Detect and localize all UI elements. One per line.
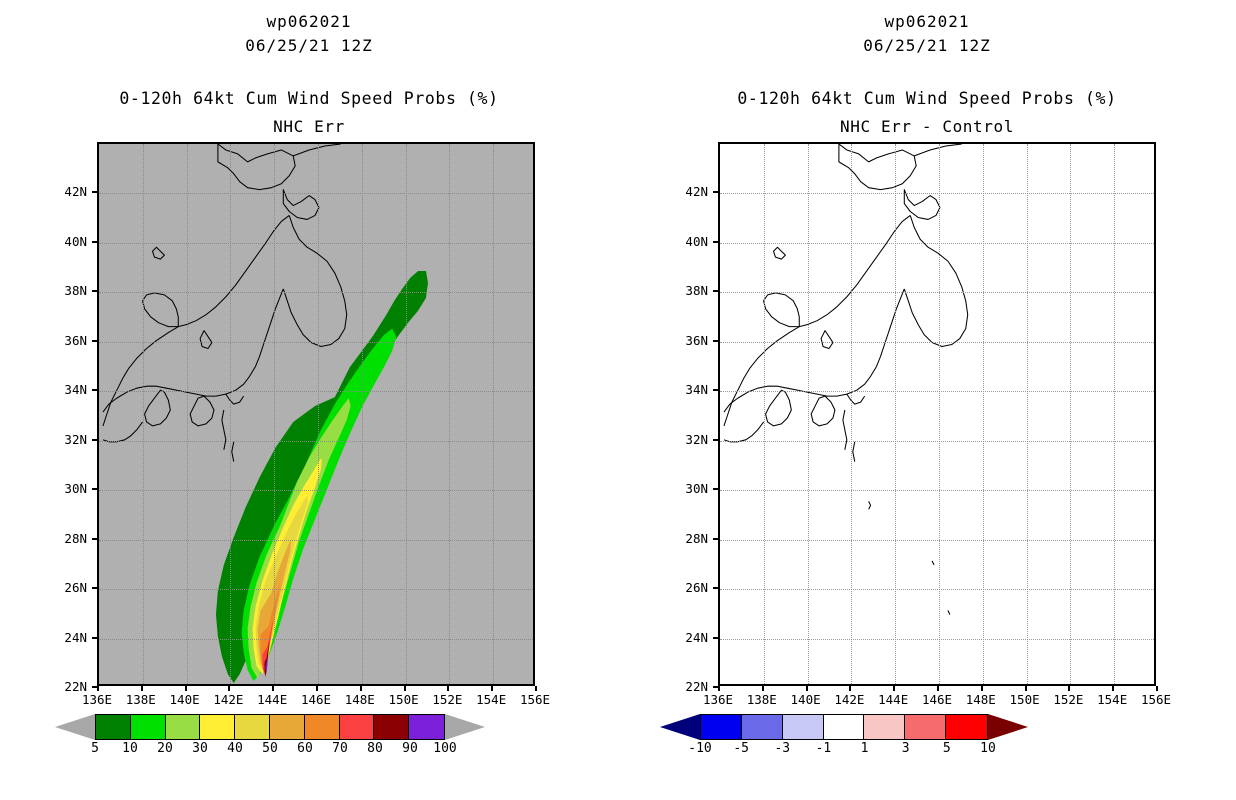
y-axis-label: 36N: [668, 333, 708, 348]
x-axis-tick: [1025, 686, 1027, 691]
gridline-vertical: [274, 144, 275, 684]
x-axis-tick: [404, 686, 406, 691]
x-axis-tick: [141, 686, 143, 691]
x-axis-label: 152E: [1046, 692, 1090, 707]
colorbar-swatch: [96, 715, 131, 739]
y-axis-label: 40N: [668, 234, 708, 249]
gridline-vertical: [143, 144, 144, 684]
y-axis-tick: [713, 439, 718, 441]
gridline-horizontal: [720, 193, 1154, 194]
colorbar-tick-label: -10: [680, 741, 720, 756]
chart-subtitle-left: NHC Err: [0, 117, 618, 136]
colorbar-swatch: [783, 715, 824, 739]
colorbar-tick-label: 80: [355, 741, 395, 756]
colorbar-swatch: [305, 715, 340, 739]
y-axis-tick: [92, 389, 97, 391]
colorbar-tick-label: 70: [320, 741, 360, 756]
chart-title-left: 0-120h 64kt Cum Wind Speed Probs (%): [0, 89, 618, 108]
y-axis-label: 34N: [668, 382, 708, 397]
colorbar-tick-label: 20: [145, 741, 185, 756]
x-axis-label: 138E: [119, 692, 163, 707]
y-axis-label: 30N: [668, 481, 708, 496]
gridline-horizontal: [720, 342, 1154, 343]
y-axis-label: 28N: [668, 531, 708, 546]
colorbar-swatch: [270, 715, 305, 739]
gridline-vertical: [764, 144, 765, 684]
colorbar-tick-label: 90: [390, 741, 430, 756]
colorbar-swatch: [701, 715, 742, 739]
y-axis-label: 28N: [47, 531, 87, 546]
colorbar-ticklabels-difference: -10-5-3-113510: [700, 741, 988, 759]
storm-id-left: wp062021: [0, 12, 618, 31]
gridline-vertical: [318, 144, 319, 684]
x-axis-label: 144E: [871, 692, 915, 707]
x-axis-tick: [1068, 686, 1070, 691]
y-axis-tick: [713, 290, 718, 292]
y-axis-label: 32N: [668, 432, 708, 447]
colorbar-tick-label: -3: [762, 741, 802, 756]
coastline-difference-panel: [720, 144, 1154, 684]
y-axis-tick: [713, 488, 718, 490]
probability-plume: [216, 271, 428, 683]
colorbar-tick-label: -1: [803, 741, 843, 756]
datetime-left: 06/25/21 12Z: [0, 36, 618, 55]
datetime-right: 06/25/21 12Z: [618, 36, 1236, 55]
y-axis-tick: [713, 389, 718, 391]
gridline-vertical: [808, 144, 809, 684]
x-axis-tick: [981, 686, 983, 691]
x-axis-tick: [447, 686, 449, 691]
gridline-horizontal: [720, 639, 1154, 640]
x-axis-tick: [718, 686, 720, 691]
gridline-vertical: [1070, 144, 1071, 684]
gridline-horizontal: [99, 639, 533, 640]
colorbar-swatch: [824, 715, 865, 739]
x-axis-tick: [491, 686, 493, 691]
y-axis-tick: [92, 686, 97, 688]
colorbar-tick-label: -5: [721, 741, 761, 756]
x-axis-tick: [762, 686, 764, 691]
colorbar-tick-label: 10: [968, 741, 1008, 756]
gridline-vertical: [1114, 144, 1115, 684]
y-axis-label: 38N: [668, 283, 708, 298]
colorbar-swatch: [235, 715, 270, 739]
gridline-horizontal: [720, 589, 1154, 590]
y-axis-tick: [713, 587, 718, 589]
x-axis-label: 146E: [294, 692, 338, 707]
colorbar-swatch: [409, 715, 444, 739]
colorbar-swatch: [166, 715, 201, 739]
colorbar-tick-label: 50: [250, 741, 290, 756]
gridline-horizontal: [720, 391, 1154, 392]
y-axis-tick: [92, 290, 97, 292]
colorbar-difference[interactable]: -10-5-3-113510: [700, 714, 988, 740]
x-axis-label: 144E: [250, 692, 294, 707]
y-axis-tick: [92, 587, 97, 589]
y-axis-label: 34N: [47, 382, 87, 397]
gridline-horizontal: [99, 243, 533, 244]
gridline-horizontal: [720, 540, 1154, 541]
x-axis-tick: [937, 686, 939, 691]
y-axis-tick: [92, 538, 97, 540]
x-axis-label: 136E: [696, 692, 740, 707]
x-axis-label: 142E: [827, 692, 871, 707]
gridline-vertical: [406, 144, 407, 684]
storm-id-right: wp062021: [618, 12, 1236, 31]
gridline-vertical: [1027, 144, 1028, 684]
colorbar-right-arrow-difference: [988, 714, 1028, 740]
x-axis-label: 154E: [1090, 692, 1134, 707]
x-axis-label: 140E: [163, 692, 207, 707]
y-axis-label: 22N: [47, 679, 87, 694]
x-axis-label: 150E: [1003, 692, 1047, 707]
colorbar-swatch: [864, 715, 905, 739]
coastline: [724, 144, 968, 615]
colorbar-tick-label: 5: [75, 741, 115, 756]
x-axis-label: 142E: [206, 692, 250, 707]
probability-contours-and-coastline: [99, 144, 533, 684]
x-axis-label: 156E: [1134, 692, 1178, 707]
gridline-horizontal: [99, 391, 533, 392]
y-axis-label: 22N: [668, 679, 708, 694]
colorbar-tick-label: 60: [285, 741, 325, 756]
y-axis-tick: [92, 637, 97, 639]
panel-nhc-err: wp062021 06/25/21 12Z 0-120h 64kt Cum Wi…: [0, 0, 618, 800]
gridline-vertical: [362, 144, 363, 684]
x-axis-tick: [185, 686, 187, 691]
y-axis-tick: [92, 241, 97, 243]
x-axis-label: 146E: [915, 692, 959, 707]
gridline-vertical: [449, 144, 450, 684]
chart-subtitle-right: NHC Err - Control: [618, 117, 1236, 136]
y-axis-tick: [713, 241, 718, 243]
x-axis-tick: [1112, 686, 1114, 691]
colorbar-tick-label: 1: [845, 741, 885, 756]
colorbar-tick-label: 30: [180, 741, 220, 756]
x-axis-label: 136E: [75, 692, 119, 707]
gridline-vertical: [187, 144, 188, 684]
gridline-vertical: [939, 144, 940, 684]
chart-title-right: 0-120h 64kt Cum Wind Speed Probs (%): [618, 89, 1236, 108]
colorbar-swatch: [340, 715, 375, 739]
x-axis-tick: [849, 686, 851, 691]
y-axis-label: 36N: [47, 333, 87, 348]
y-axis-label: 32N: [47, 432, 87, 447]
y-axis-label: 24N: [47, 630, 87, 645]
x-axis-label: 140E: [784, 692, 828, 707]
colorbar-probability[interactable]: 5102030405060708090100: [95, 714, 445, 740]
gridline-horizontal: [99, 540, 533, 541]
colorbar-cells-probability: [95, 714, 445, 740]
y-axis-tick: [713, 637, 718, 639]
gridline-horizontal: [99, 490, 533, 491]
colorbar-swatch: [200, 715, 235, 739]
y-axis-tick: [713, 191, 718, 193]
y-axis-label: 30N: [47, 481, 87, 496]
gridline-vertical: [983, 144, 984, 684]
y-axis-label: 26N: [47, 580, 87, 595]
gridline-horizontal: [99, 342, 533, 343]
gridline-vertical: [851, 144, 852, 684]
gridline-horizontal: [720, 441, 1154, 442]
x-axis-tick: [806, 686, 808, 691]
x-axis-label: 148E: [338, 692, 382, 707]
y-axis-label: 38N: [47, 283, 87, 298]
y-axis-tick: [92, 191, 97, 193]
colorbar-swatch: [131, 715, 166, 739]
x-axis-tick: [360, 686, 362, 691]
colorbar-swatch: [946, 715, 987, 739]
x-axis-tick: [1156, 686, 1158, 691]
panel-nhc-err-minus-control: wp062021 06/25/21 12Z 0-120h 64kt Cum Wi…: [618, 0, 1236, 800]
gridline-horizontal: [720, 292, 1154, 293]
gridline-horizontal: [720, 490, 1154, 491]
y-axis-tick: [713, 538, 718, 540]
colorbar-tick-label: 100: [425, 741, 465, 756]
x-axis-tick: [228, 686, 230, 691]
colorbar-cells-difference: [700, 714, 988, 740]
colorbar-swatch: [905, 715, 946, 739]
gridline-horizontal: [720, 243, 1154, 244]
x-axis-label: 148E: [959, 692, 1003, 707]
x-axis-label: 150E: [382, 692, 426, 707]
colorbar-tick-label: 3: [886, 741, 926, 756]
gridline-horizontal: [99, 441, 533, 442]
x-axis-label: 152E: [425, 692, 469, 707]
map-plot-difference[interactable]: [718, 142, 1156, 686]
colorbar-tick-label: 40: [215, 741, 255, 756]
x-axis-label: 156E: [513, 692, 557, 707]
colorbar-right-arrow-probability: [445, 714, 485, 740]
colorbar-swatch: [374, 715, 409, 739]
map-plot-nhc-err[interactable]: [97, 142, 535, 686]
gridline-vertical: [895, 144, 896, 684]
y-axis-label: 42N: [47, 184, 87, 199]
gridline-vertical: [230, 144, 231, 684]
colorbar-tick-label: 5: [927, 741, 967, 756]
x-axis-tick: [97, 686, 99, 691]
x-axis-tick: [893, 686, 895, 691]
x-axis-label: 138E: [740, 692, 784, 707]
x-axis-label: 154E: [469, 692, 513, 707]
colorbar-ticklabels-probability: 5102030405060708090100: [95, 741, 445, 759]
x-axis-tick: [272, 686, 274, 691]
y-axis-label: 24N: [668, 630, 708, 645]
y-axis-label: 42N: [668, 184, 708, 199]
gridline-horizontal: [99, 193, 533, 194]
y-axis-label: 40N: [47, 234, 87, 249]
colorbar-left-arrow-probability: [55, 714, 95, 740]
y-axis-label: 26N: [668, 580, 708, 595]
colorbar-tick-label: 10: [110, 741, 150, 756]
colorbar-swatch: [742, 715, 783, 739]
colorbar-left-arrow-difference: [660, 714, 700, 740]
gridline-horizontal: [99, 589, 533, 590]
y-axis-tick: [92, 439, 97, 441]
x-axis-tick: [316, 686, 318, 691]
gridline-vertical: [493, 144, 494, 684]
gridline-horizontal: [99, 292, 533, 293]
x-axis-tick: [535, 686, 537, 691]
y-axis-tick: [92, 488, 97, 490]
y-axis-tick: [92, 340, 97, 342]
y-axis-tick: [713, 340, 718, 342]
y-axis-tick: [713, 686, 718, 688]
